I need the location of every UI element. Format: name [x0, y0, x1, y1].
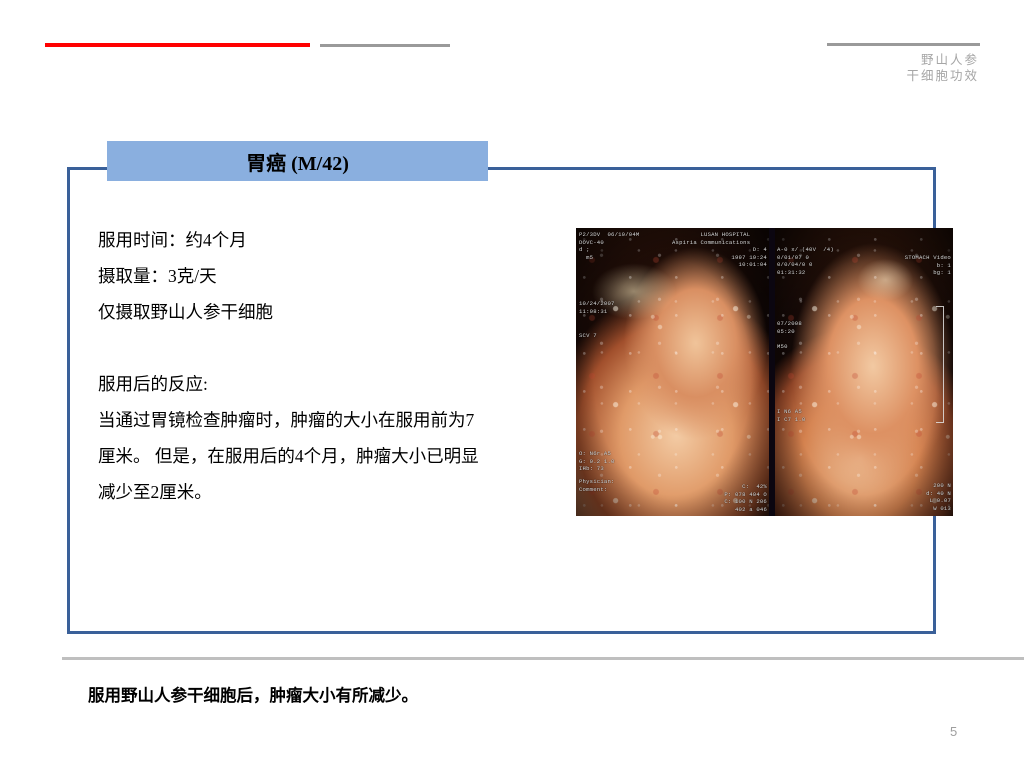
osd-right-top-left: A-0 x/ (40V /4) 0/01/07 0 0/0/04/0 0 01:… — [777, 246, 834, 276]
osd-right-stomach-label: STOMACH Video b: 1 bg: 1 — [905, 254, 951, 277]
osd-left-bottom-left: O: N6r A5 G: 0.2 1.0 IHb: 73 — [579, 450, 615, 473]
reaction-line-3: 减少至2厘米。 — [98, 474, 563, 510]
endoscopy-panel-after: A-0 x/ (40V /4) 0/01/07 0 0/0/04/0 0 01:… — [775, 228, 953, 516]
header-caption-line-2: 干细胞功效 — [739, 68, 979, 84]
reaction-line-1: 当通过胃镜检查肿瘤时，肿瘤的大小在服用前为7 — [98, 402, 563, 438]
page-title: 胃癌 (M/42) — [246, 147, 349, 176]
reaction-paragraph: 当通过胃镜检查肿瘤时，肿瘤的大小在服用前为7 厘米。 但是，在服用后的4个月，肿… — [98, 402, 563, 510]
header-caption: 野山人参 干细胞功效 — [739, 52, 979, 84]
osd-left-mid-left: 10/24/2007 11:08:31 — [579, 300, 615, 315]
osd-right-bottom-right: 200 N d: 40 N L 0.07 W 013 — [926, 482, 951, 512]
scope-scale-bar-icon — [936, 306, 944, 423]
osd-left-hospital: LUSAN HOSPITAL Aspiria Communications — [672, 231, 750, 246]
body-line-intake-type: 仅摄取野山人参干细胞 — [98, 294, 563, 330]
header-caption-line-1: 野山人参 — [739, 52, 979, 68]
reaction-heading: 服用后的反应: — [98, 366, 563, 402]
slide-title-chip: 胃癌 (M/42) — [107, 141, 488, 181]
scope-vignette-left — [576, 228, 769, 516]
osd-left-top-right: D: 4 1997 19:24 10:01:04 — [731, 246, 767, 269]
body-line-dosage-period: 服用时间：约4个月 — [98, 222, 563, 258]
osd-right-bottom-left: I N6 A5 I C7 1.0 — [777, 408, 805, 423]
paragraph-spacer — [98, 330, 563, 366]
osd-left-physician: Physician: Comment: — [579, 478, 615, 493]
body-line-intake-amount: 摄取量：3克/天 — [98, 258, 563, 294]
osd-left-mid-left-2: SCV 7 — [579, 332, 597, 340]
header-rule-red — [45, 43, 310, 47]
endoscopy-panel-before: P2/3DV 06/10/04M DOVC-40 d ; m5 10/24/20… — [576, 228, 769, 516]
endoscopy-figure: P2/3DV 06/10/04M DOVC-40 d ; m5 10/24/20… — [576, 228, 953, 516]
slide-canvas: 野山人参 干细胞功效 胃癌 (M/42) 服用时间：约4个月 摄取量：3克/天 … — [0, 0, 1024, 768]
osd-right-mid-left: 07/2008 05:20 M50 — [777, 320, 802, 350]
osd-left-top-left: P2/3DV 06/10/04M DOVC-40 d ; m5 — [579, 231, 639, 261]
page-number: 5 — [950, 724, 957, 739]
header-rule-gray-short — [320, 44, 450, 47]
osd-left-bottom-right: C: 42% P: 078 404 O C: 100 N 206 402 a 0… — [724, 483, 767, 513]
footer-divider — [62, 657, 1024, 660]
figure-caption: 服用野山人参干细胞后，肿瘤大小有所减少。 — [88, 682, 418, 706]
body-text-column: 服用时间：约4个月 摄取量：3克/天 仅摄取野山人参干细胞 服用后的反应: 当通… — [98, 222, 563, 510]
header-rule-gray-right — [827, 43, 980, 46]
reaction-line-2: 厘米。 但是，在服用后的4个月，肿瘤大小已明显 — [98, 438, 563, 474]
